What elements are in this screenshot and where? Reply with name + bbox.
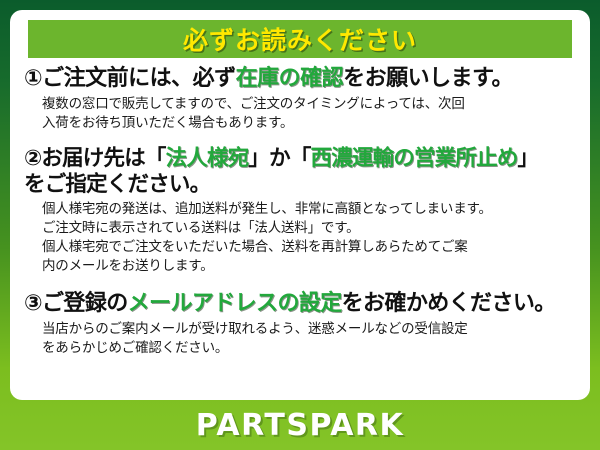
item-marker: ② <box>24 146 41 171</box>
body-line: 複数の窓口で販売してますので、ご注文のタイミングによっては、次回 <box>42 95 576 114</box>
footer-bar: PARTSPARK <box>0 400 600 450</box>
item-marker: ③ <box>24 291 42 316</box>
body-line: 内のメールをお送りします。 <box>42 257 576 276</box>
item-body: 個人様宅宛の発送は、追加送料が発生し、非常に高額となってしまいます。 ご注文時に… <box>42 200 576 277</box>
list-item: ①ご注文前には、必ず在庫の確認をお願いします。 複数の窓口で販売してますので、ご… <box>10 66 590 133</box>
item-headline: ③ご登録のメールアドレスの設定をお確かめください。 <box>24 291 576 317</box>
body-line: ご注文時に表示されている送料は「法人送料」です。 <box>42 219 576 238</box>
notice-card: 必ずお読みください ①ご注文前には、必ず在庫の確認をお願いします。 複数の窓口で… <box>10 10 590 400</box>
page-title: 必ずお読みください <box>183 21 417 57</box>
notice-list: ①ご注文前には、必ず在庫の確認をお願いします。 複数の窓口で販売してますので、ご… <box>10 66 590 358</box>
item-headline-line2: をご指定ください。 <box>24 172 576 197</box>
headline-segment: ご注文前には、必ず <box>42 66 236 91</box>
body-line: 入荷をお待ち頂いただく場合もあります。 <box>42 114 576 133</box>
body-line: をあらかじめご確認ください。 <box>42 339 576 358</box>
headline-segment: 」 <box>518 146 539 171</box>
headline-segment: をお願いします。 <box>343 66 513 91</box>
headline-segment: をご指定ください。 <box>24 172 210 197</box>
item-body: 当店からのご案内メールが受け取れるよう、迷惑メールなどの受信設定 をあらかじめご… <box>42 320 576 358</box>
headline-highlight: メールアドレスの設定 <box>128 291 342 316</box>
item-headline: ①ご注文前には、必ず在庫の確認をお願いします。 <box>24 66 576 92</box>
list-item: ③ご登録のメールアドレスの設定をお確かめください。 当店からのご案内メールが受け… <box>10 291 590 358</box>
body-line: 個人様宅宛でご注文をいただいた場合、送料を再計算しあらためてご案 <box>42 238 576 257</box>
headline-segment: をお確かめください。 <box>342 291 556 316</box>
headline-segment: 」か「 <box>248 146 310 171</box>
header-bar: 必ずお読みください <box>28 20 572 58</box>
headline-highlight: 法人様宛 <box>166 146 249 171</box>
body-line: 個人様宅宛の発送は、追加送料が発生し、非常に高額となってしまいます。 <box>42 200 576 219</box>
headline-segment: ご登録の <box>42 291 128 316</box>
item-body: 複数の窓口で販売してますので、ご注文のタイミングによっては、次回 入荷をお待ち頂… <box>42 95 576 133</box>
notice-banner: 必ずお読みください ①ご注文前には、必ず在庫の確認をお願いします。 複数の窓口で… <box>0 0 600 450</box>
brand-logo-text: PARTSPARK <box>196 408 405 443</box>
headline-segment: お届け先は「 <box>41 146 165 171</box>
item-marker: ① <box>24 66 42 91</box>
item-headline: ②お届け先は「法人様宛」か「西濃運輸の営業所止め」 <box>24 146 576 171</box>
body-line: 当店からのご案内メールが受け取れるよう、迷惑メールなどの受信設定 <box>42 320 576 339</box>
list-item: ②お届け先は「法人様宛」か「西濃運輸の営業所止め」 をご指定ください。 個人様宅… <box>10 146 590 276</box>
headline-highlight: 在庫の確認 <box>236 66 344 91</box>
headline-highlight: 西濃運輸の営業所止め <box>311 146 518 171</box>
